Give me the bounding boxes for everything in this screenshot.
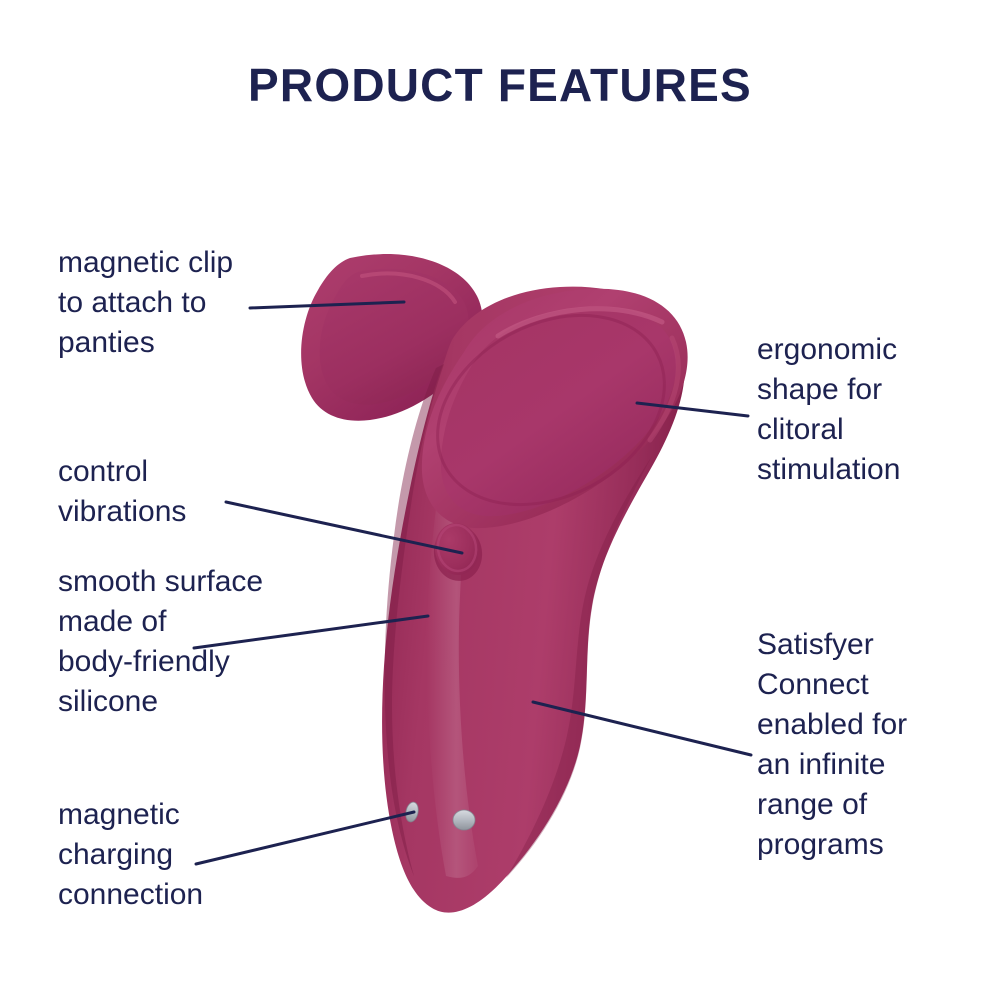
- leader-line-satisfyer-connect: [533, 702, 751, 755]
- product-features-infographic: PRODUCT FEATURES: [0, 0, 1000, 1000]
- feature-label-smooth-surface: smooth surface made of body-friendly sil…: [58, 562, 348, 722]
- feature-label-magnetic-charging: magnetic charging connection: [58, 795, 348, 915]
- feature-label-control-vibrations: control vibrations: [58, 452, 328, 532]
- product-part-ergonomic-head: [405, 278, 698, 543]
- product-part-body-shaft: [382, 284, 685, 912]
- feature-label-magnetic-clip: magnetic clip to attach to panties: [58, 243, 328, 363]
- product-part-magnetic-clip: [301, 254, 482, 421]
- leader-line-ergonomic-shape: [637, 403, 748, 416]
- product-part-charging-contacts: [404, 801, 475, 830]
- product-part-control-button[interactable]: [430, 520, 485, 584]
- feature-label-satisfyer-connect: Satisfyer Connect enabled for an infinit…: [757, 625, 997, 865]
- page-title: PRODUCT FEATURES: [0, 58, 1000, 112]
- feature-label-ergonomic-shape: ergonomic shape for clitoral stimulation: [757, 330, 997, 490]
